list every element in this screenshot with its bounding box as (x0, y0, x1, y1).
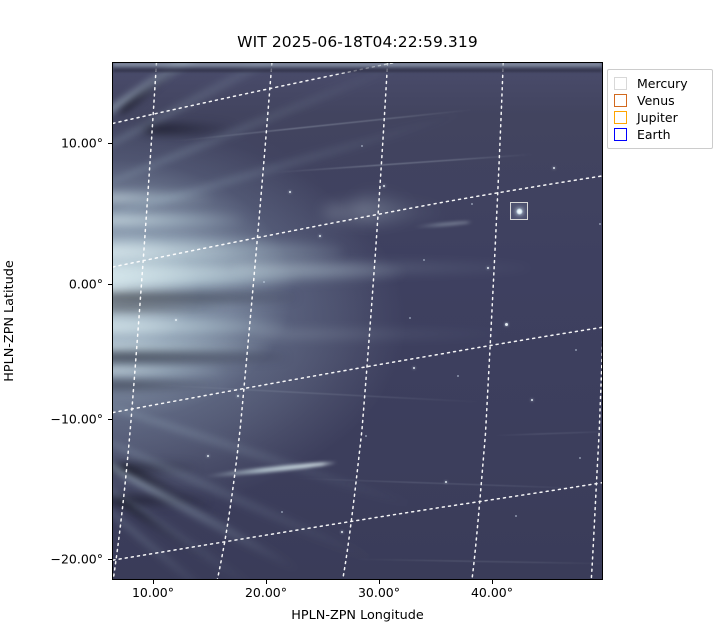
ytick-label: 10.00° (61, 136, 103, 151)
xtick-label: 40.00° (471, 585, 513, 600)
xtick-mark (153, 580, 154, 584)
coordinate-graticule (113, 63, 602, 579)
ytick-mark (108, 419, 112, 420)
xtick-mark (266, 580, 267, 584)
legend-label-mercury: Mercury (637, 76, 688, 91)
legend-label-earth: Earth (637, 127, 671, 142)
legend-label-venus: Venus (637, 93, 675, 108)
legend-item-jupiter[interactable]: Jupiter (614, 109, 706, 126)
legend-item-mercury[interactable]: Mercury (614, 75, 706, 92)
legend-swatch-mercury (614, 77, 627, 90)
figure-canvas: WIT 2025-06-18T04:22:59.319 (0, 0, 720, 640)
xtick-label: 10.00° (132, 585, 174, 600)
legend[interactable]: Mercury Venus Jupiter Earth (607, 69, 713, 149)
legend-item-earth[interactable]: Earth (614, 126, 706, 143)
ytick-mark (108, 284, 112, 285)
marker-mercury[interactable] (510, 202, 528, 220)
page-title: WIT 2025-06-18T04:22:59.319 (112, 33, 603, 51)
plot-axes[interactable] (112, 62, 603, 580)
xtick-label: 30.00° (358, 585, 400, 600)
ytick-mark (108, 143, 112, 144)
x-axis-label: HPLN-ZPN Longitude (112, 608, 603, 623)
legend-swatch-earth (614, 128, 627, 141)
y-axis-label: HPLN-ZPN Latitude (0, 62, 20, 580)
ytick-mark (108, 559, 112, 560)
mercury-point (516, 208, 523, 215)
legend-swatch-venus (614, 94, 627, 107)
ytick-label: −20.00° (50, 552, 103, 567)
xtick-mark (379, 580, 380, 584)
ytick-label: −10.00° (50, 412, 103, 427)
ytick-label: 0.00° (69, 277, 103, 292)
legend-item-venus[interactable]: Venus (614, 92, 706, 109)
legend-label-jupiter: Jupiter (637, 110, 678, 125)
xtick-mark (492, 580, 493, 584)
legend-swatch-jupiter (614, 111, 627, 124)
xtick-label: 20.00° (245, 585, 287, 600)
